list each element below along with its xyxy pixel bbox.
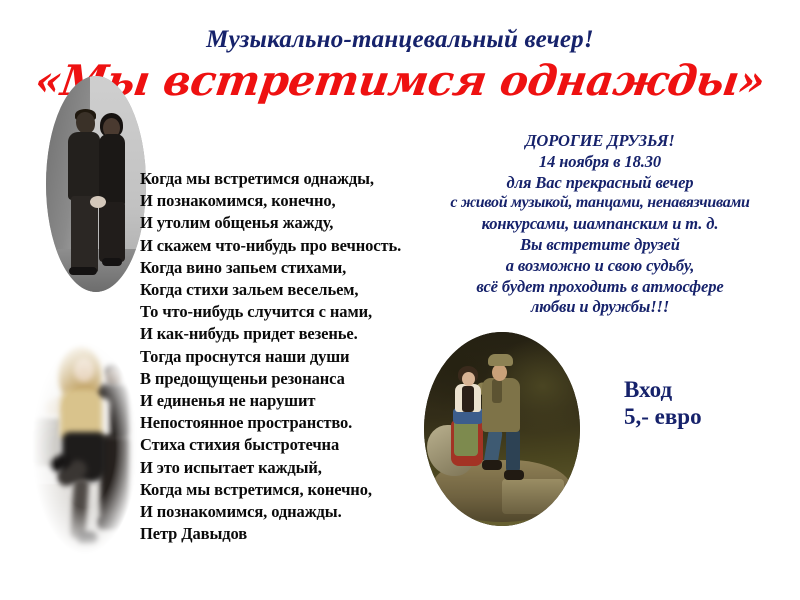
man-head-shape xyxy=(76,112,95,134)
poem-line: И познакомимся, однажды. xyxy=(140,501,460,523)
poem-line: В предощущеньи резонанса xyxy=(140,368,460,390)
invitation-line: Вы встретите друзей xyxy=(400,235,800,256)
poem-line: И это испытает каждый, xyxy=(140,457,460,479)
invitation-greeting: ДОРОГИЕ ДРУЗЬЯ! xyxy=(400,131,800,152)
invitation-block: ДОРОГИЕ ДРУЗЬЯ! 14 ноября в 18.30 для Ва… xyxy=(400,131,800,318)
page-title: Музыкально-танцевальный вечер! xyxy=(0,26,800,54)
price-block: Вход 5,- евро xyxy=(624,376,702,430)
woman-shoes-shape xyxy=(102,258,122,266)
man-shoes-shape xyxy=(69,267,97,275)
invitation-line: с живой музыкой, танцами, ненавязчивами xyxy=(400,193,800,214)
dancer-man-shoe-shape xyxy=(98,518,130,530)
painting-man-lapel-shape xyxy=(492,379,502,403)
invitation-closing: любви и дружбы!!! xyxy=(400,297,800,318)
invitation-datetime: 14 ноября в 18.30 xyxy=(400,152,800,173)
woman-torso-shape xyxy=(99,134,125,206)
poem-line: Непостоянное пространство. xyxy=(140,412,460,434)
woman-skirt-shape xyxy=(99,202,125,262)
poster: Музыкально-танцевальный вечер! «Мы встре… xyxy=(0,0,800,600)
painting-man-face-shape xyxy=(492,364,507,381)
dancer-woman-face-shape xyxy=(74,358,94,382)
invitation-line: всё будет проходить в атмосфере xyxy=(400,277,800,298)
joined-hands-shape xyxy=(90,196,106,208)
poem-line: Стиха стихия быстротечна xyxy=(140,434,460,456)
painting-man-hat-shape xyxy=(488,354,513,366)
photo-couple-standing xyxy=(46,76,146,292)
painting-stone-step xyxy=(502,479,564,514)
photo-dancing-couple xyxy=(28,332,142,562)
painting-man-leg-right-shape xyxy=(506,428,520,474)
poem-author: Петр Давыдов xyxy=(140,523,460,545)
invitation-line: для Вас прекрасный вечер xyxy=(400,173,800,194)
painting-man-boot-left-shape xyxy=(482,460,502,470)
dancer-woman-heel-shape xyxy=(78,532,98,544)
painting-man-boot-right-shape xyxy=(504,470,524,480)
poem-line: Тогда проснутся наши души xyxy=(140,346,460,368)
poem-line: И как-нибудь придет везенье. xyxy=(140,323,460,345)
entrance-label: Вход xyxy=(624,376,702,403)
poem-line: Когда мы встретимся, конечно, xyxy=(140,479,460,501)
invitation-line: а возможно и свою судьбу, xyxy=(400,256,800,277)
painting-woman-face-shape xyxy=(462,372,475,386)
poem-line: И единенья не нарушит xyxy=(140,390,460,412)
man-torso-shape xyxy=(68,132,100,200)
invitation-line: конкурсами, шампанским и т. д. xyxy=(400,214,800,235)
painting-woman-vest-shape xyxy=(462,386,474,412)
entrance-amount: 5,- евро xyxy=(624,403,702,430)
